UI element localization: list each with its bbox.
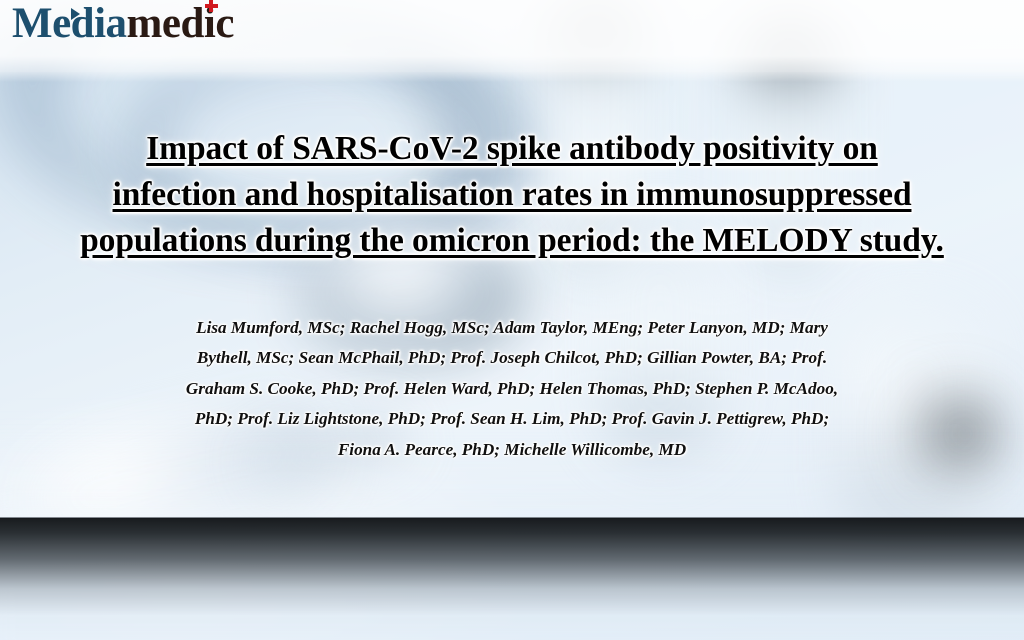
author-line-5: Fiona A. Pearce, PhD; Michelle Willicomb… [28, 435, 996, 465]
title-line-2: infection and hospitalisation rates in i… [0, 172, 1024, 218]
triangle-accent-icon [71, 8, 80, 20]
red-cross-icon [205, 0, 218, 12]
logo-medic-text: medic [127, 2, 234, 45]
logo-media-text: Media [12, 2, 127, 45]
title-line-3: populations during the omicron period: t… [0, 218, 1024, 264]
mediamedic-logo[interactable]: Media medic [12, 2, 234, 45]
author-line-4: PhD; Prof. Liz Lightstone, PhD; Prof. Se… [28, 404, 996, 434]
title-slide: Media medic Impact of SARS-CoV-2 spike a… [0, 0, 1024, 640]
title-line-1: Impact of SARS-CoV-2 spike antibody posi… [0, 126, 1024, 172]
logo-media-label: Media [12, 0, 127, 47]
author-line-2: Bythell, MSc; Sean McPhail, PhD; Prof. J… [28, 343, 996, 373]
author-list: Lisa Mumford, MSc; Rachel Hogg, MSc; Ada… [28, 313, 996, 465]
author-line-3: Graham S. Cooke, PhD; Prof. Helen Ward, … [28, 374, 996, 404]
page-title: Impact of SARS-CoV-2 spike antibody posi… [0, 126, 1024, 264]
lower-dark-band [0, 518, 1024, 640]
author-line-1: Lisa Mumford, MSc; Rachel Hogg, MSc; Ada… [28, 313, 996, 343]
header-band-edge [0, 72, 1024, 82]
